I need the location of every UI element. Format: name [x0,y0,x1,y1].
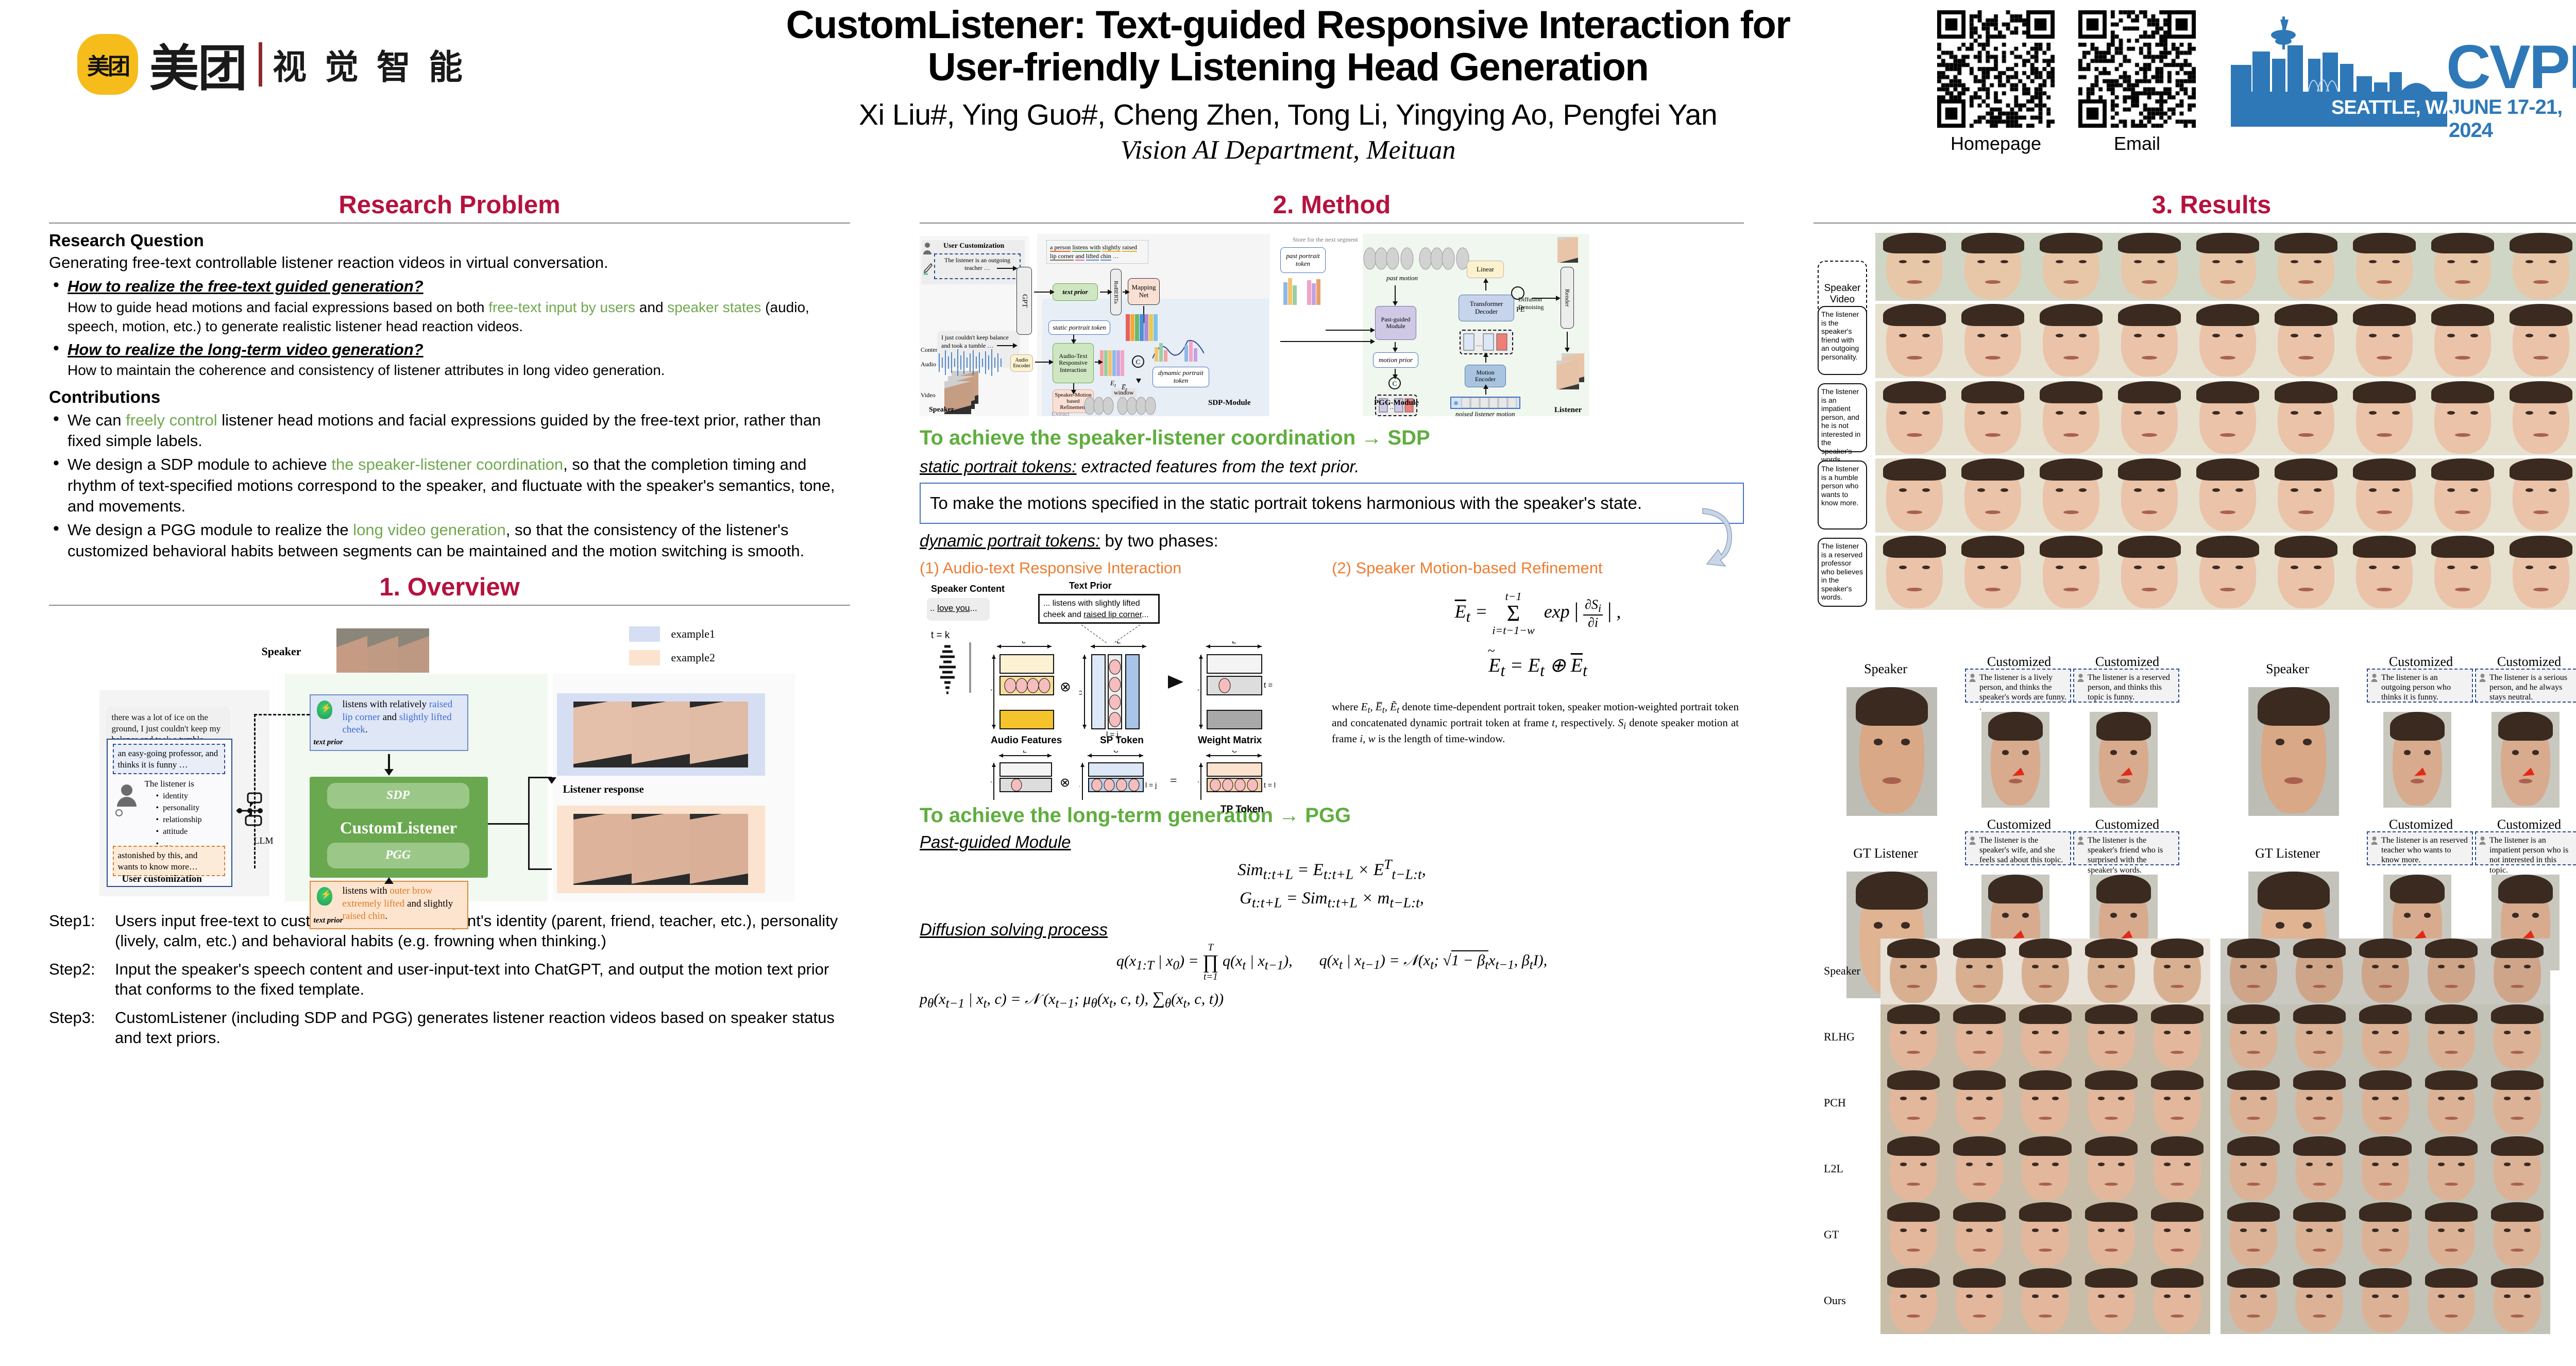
mf-ar-roberta-map [1123,292,1126,293]
mf-past-motion-heads [1363,246,1471,275]
static-tokens-rest: extracted features from the text prior. [1076,457,1359,476]
svg-text:T: T [991,688,992,697]
rq1-green1: free-text input by users [488,299,635,315]
face-frame [2032,536,2110,610]
face-frame [2492,712,2560,808]
mf-text-prior-box: text prior [1053,283,1098,301]
face-frame [1954,381,2032,455]
mf-pe-icon [1511,286,1524,300]
cvpr-logo: SEATTLE, WA CVPR JUNE 17-21, 2024 [2231,14,2576,128]
p1-otimes-1: ⊗ [1060,679,1071,695]
listener-description-tag: The listener is an impatient person, and… [1818,383,1867,452]
face-frame [2090,712,2158,808]
person-icon [1969,673,1976,682]
mf-listener-label: Listener [1554,406,1582,415]
mf-listener-img-top [1557,237,1578,263]
svg-text:❄: ❄ [1453,400,1459,407]
phase2-where: where Et, E̅t, Ẽt denote time-dependent … [1332,700,1744,746]
mf-ar-me-slots [1485,356,1486,363]
listener-prompt-box: The listener is the speaker's wife, and … [1965,831,2071,865]
c2-pre: We design a SDP module to achieve [67,455,331,473]
face-frame [2286,1070,2352,1136]
face-frame [2189,458,2267,533]
face-frame [2221,1268,2286,1334]
face-frame [2418,1136,2484,1202]
mf-past-token-label: past portrait token [1281,252,1325,267]
phase2-eq1: Et = t−1 Σ i=t−1−w exp | ∂Si ∂i | , [1455,601,1621,622]
mf-ar-dyn-pg [1280,341,1371,342]
paper-title-line2: User-friendly Listening Head Generation [690,46,1886,89]
step-value: CustomListener (including SDP and PGG) g… [115,1008,850,1048]
mf-noised-motion-bar: ❄ [1450,397,1520,409]
results-top-panel: Speaker Video The listener is the speake… [1814,231,2576,643]
ov-user-custom-title: User customization [122,874,202,885]
face-frame [2345,536,2424,610]
method-row-label: Ours [1824,1294,1846,1307]
ov-legend-label-1: example1 [671,627,716,641]
face-frame [2144,1070,2210,1136]
ov-tp-label-blue: text prior [314,738,343,748]
pgg-block: To achieve the long-term generation → PG… [920,804,1744,1011]
face-frame [1875,381,1954,455]
face-frame [2286,938,2352,1004]
face-frame [2286,1004,2352,1070]
face-frame [2032,381,2110,455]
static-tokens-line: static portrait tokens: extracted featur… [920,457,1744,476]
mf-ar-prior-roberta [1100,292,1108,293]
person-icon [1969,836,1976,845]
svg-text:C: C [1113,750,1118,754]
face-frame [1946,1268,2012,1334]
face-frame [1946,1070,2012,1136]
face-frame [2110,536,2189,610]
p1-audio-block: c T [991,641,1058,737]
p1-audio-features-label: Audio Features [991,735,1062,746]
panel-caption: Speaker [1834,661,1937,677]
face-frame [2424,304,2502,378]
face-frame [2484,1202,2550,1268]
qr-email-icon[interactable] [2078,10,2196,128]
pgg-eq1: Simt:t+L = Et:t+L × ETt−L:t, [920,856,1744,883]
ov-response-blue-frames [573,702,748,767]
mf-noised-label: noised listener motion [1455,410,1515,418]
ov-prior-blue-text: listens with relatively raised lip corne… [343,699,453,735]
face-frame [2078,1136,2144,1202]
diff-eq1: q(x1:T | x0) = T∏t=1 q(xt | xt−1), [1116,943,1293,982]
p1-speaker-content-label: Speaker Content [931,584,1005,594]
mf-atri-box: Audio-Text Responsive Interaction [1053,343,1094,383]
cvpr-dates: JUNE 17-21, 2024 [2449,96,2576,142]
mf-static-token-label: static portrait token [1053,324,1106,332]
person-icon [2371,673,2378,682]
ov-bulb-icon-orange [317,887,332,906]
diff-eq3: pθ(xt−1 | xt, c) = 𝒩 (xt−1; μθ(xt, c, t)… [920,991,1224,1008]
ov-llm-icon [236,792,264,836]
svg-text:t = k: t = k [1264,781,1275,789]
mf-dynamic-token-box: dynamic portrait token [1153,367,1209,387]
face-frame [1946,1004,2012,1070]
mf-roberta-label: RoBERTa [1113,281,1119,303]
ov-llm-label: LLM [254,835,274,846]
sdp-block: To achieve the speaker-listener coordina… [920,426,1744,551]
mf-ar-audio-atri [1035,362,1049,363]
author-list: Xi Liu#, Ying Guo#, Cheng Zhen, Tong Li,… [690,98,1886,132]
panel-caption: GT Listener [2236,846,2339,861]
research-question-1-body: How to guide head motions and facial exp… [67,298,850,336]
mf-ar-static-atri [1073,335,1074,340]
person-icon [2479,673,2486,682]
overview-figure: Speaker there was a lot of ice on the gr… [99,613,800,901]
contribution-item: We can freely control listener head moti… [49,410,850,452]
results-mid-panel-2: SpeakerGT ListenerCustomized Listener 1T… [2215,647,2576,935]
ov-listener-response-label: Listener response [563,783,644,796]
svg-text:T: T [1198,688,1199,697]
p1-row2-sp: C L l = j [1079,750,1157,805]
ov-bulb-icon-blue [317,701,332,719]
face-frame [2418,1004,2484,1070]
face-frame [1880,1004,1946,1070]
svg-text:L: L [1079,780,1080,788]
face-frame [2012,1004,2078,1070]
face-frame [1954,233,2032,301]
face-frame [2484,1070,2550,1136]
phases-row: (1) Audio-text Responsive Interaction Sp… [920,559,1744,797]
mf-past-token-box: past portrait token [1280,247,1326,273]
face-frame [2012,1136,2078,1202]
face-frame [2110,304,2189,378]
person-icon [2077,673,2084,682]
svg-text:c: c [1079,688,1082,697]
listener-description-tag: The listener is the speaker's friend wit… [1818,306,1867,375]
p1-weight-matrix-label: Weight Matrix [1198,735,1262,746]
meituan-badge-icon: 美团 [77,34,138,95]
column-left: Research Problem Research Question Gener… [49,191,850,1048]
cvpr-city: SEATTLE, WA [2331,97,2456,119]
results-mid-panels: SpeakerGT ListenerCustomized Listener 1T… [1814,647,2576,935]
face-frame [2286,1268,2352,1334]
ov-tp-label-orange: text prior [314,916,343,926]
face-frame [2144,1268,2210,1334]
face-frame [2484,1004,2550,1070]
mf-dynamic-token-label: dynamic portrait token [1153,369,1209,384]
mf-past-motion-label: past motion [1386,274,1418,282]
mf-gpt-label: GPT [1020,294,1028,308]
mf-token-slots-2: … [1460,330,1513,354]
face-frame [2032,304,2110,378]
mf-speaker-label: Speaker [929,406,954,414]
face-frame [2418,938,2484,1004]
face-frame [2352,938,2418,1004]
face-frame [2502,233,2576,301]
qr-homepage-icon[interactable] [1937,10,2055,128]
face-frame [2267,458,2345,533]
face-frame [2502,381,2576,455]
face-frame [1875,304,1954,378]
svg-text:L: L [1232,641,1236,645]
mf-ar-render-listener [1567,332,1568,348]
face-frame [2078,1004,2144,1070]
ov-text-prior-orange: text prior listens with outer brow extre… [310,881,468,929]
ov-speaker-frames [336,628,429,673]
dynamic-tokens-head: dynamic portrait tokens: [920,531,1100,550]
mf-pencil-icon [923,263,933,275]
svg-text:C: C [1232,750,1237,754]
c1-pre: We can [67,411,126,429]
listener-prompt-box: The listener is the speaker's friend who… [2073,831,2179,865]
svg-text:L: L [1023,750,1027,754]
mf-waveform-icon [937,348,1004,377]
face-frame [1875,458,1954,533]
face-frame [2221,1004,2286,1070]
panel-caption: Speaker [2236,661,2339,677]
face-frame [1875,233,1954,301]
c1-green: freely control [126,411,217,429]
listener-prompt-box: The listener is an impatient person who … [2475,831,2576,865]
phase2-block: (2) Speaker Motion-based Refinement Et =… [1332,559,1744,797]
p1-speaker-content-text: .. love you... [927,598,990,621]
mf-render-label: Render [1564,289,1570,307]
rq1-mid: and [635,299,667,315]
mf-audio-encoder-box: Audio Encoder [1010,354,1033,372]
section-rule-overview [49,605,850,606]
mf-ar-pastmotion-pg [1395,285,1396,302]
face-frame [1954,304,2032,378]
mf-mappingnet-box: Mapping Net [1128,278,1160,305]
face-frame [2248,687,2339,816]
column-right: 3. Results Speaker Video The listener is… [1814,191,2576,1366]
mf-et-tokens [1100,350,1127,380]
section-title-research-problem: Research Problem [49,191,850,223]
c3-pre: We design a PGG module to realize the [67,521,353,539]
results-bottom-panel: SpeakerRLHGPCHL2LGTOurs [1814,938,2576,1366]
face-frame [2267,381,2345,455]
mf-store-label: Store for the next segment [1293,236,1358,244]
phase2-title: (2) Speaker Motion-based Refinement [1332,559,1744,577]
cvpr-wordmark: CVPR [2446,36,2576,98]
ov-dash-2 [254,714,310,715]
mf-concat-icon: C [1132,355,1144,368]
mf-ar-mp-c [1395,369,1396,375]
research-question-2-title: How to realize the long-term video gener… [67,339,850,360]
research-question-1-title: How to realize the free-text guided gene… [67,276,850,297]
face-frame [2267,233,2345,301]
face-frame [2424,381,2502,455]
face-frame [2189,233,2267,301]
method-row-label: RLHG [1824,1030,1855,1044]
face-frame [2078,1202,2144,1268]
research-question-heading: Research Question [49,231,850,250]
face-frame [2352,1268,2418,1334]
sdp-callout-text: To make the motions specified in the sta… [930,493,1642,513]
mf-audio-encoder-label: Audio Encoder [1011,357,1032,369]
ov-legend-label-2: example2 [671,651,716,664]
mf-person-icon [923,242,932,257]
ov-arrow-down-1 [388,754,390,770]
method-row-label: L2L [1824,1162,1843,1175]
face-frame [1946,1136,2012,1202]
face-frame [2078,1268,2144,1334]
p1-row2-weight: L T [991,750,1058,805]
face-frame [2345,381,2424,455]
listener-description-tag: The listener is a humble person who want… [1818,460,1867,530]
face-frame [2345,304,2424,378]
research-question-item-2: How to realize the long-term video gener… [49,339,850,380]
ov-text-prior-blue: text prior listens with relatively raise… [310,694,468,751]
face-frame [2221,1202,2286,1268]
mf-past-token-strip [1283,278,1323,310]
rq1-green2: speaker states [667,299,761,315]
person-icon [2479,836,2486,845]
mf-ar-motion-smr [1073,383,1074,390]
face-frame [1880,938,1946,1004]
ov-branch-up [528,777,552,778]
ov-user-custom-orange: astonished by this, and wants to know mo… [113,846,225,877]
logo-divider [259,42,262,87]
face-frame [1875,536,1954,610]
face-frame [2221,938,2286,1004]
face-frame [2418,1070,2484,1136]
face-frame [1981,712,2049,808]
listener-description-tag: The listener is a reserved professor who… [1818,538,1867,607]
p1-otimes-2: ⊗ [1060,775,1070,790]
pgg-lead: To achieve the long-term generation → PG… [920,804,1744,827]
mf-text-prior-label: text prior [1062,288,1088,296]
contribution-item: We design a SDP module to achieve the sp… [49,454,850,517]
face-frame [1880,1268,1946,1334]
contribution-item: We design a PGG module to realize the lo… [49,520,850,561]
face-frame [2110,381,2189,455]
p1-tk-label: t = k [931,630,950,641]
p1-text-prior-text: ... listens with slightly lifted cheek a… [1038,594,1160,624]
mf-ar-atri-et [1095,362,1099,363]
qr-homepage-label: Homepage [1937,133,2055,155]
face-frame [2221,1136,2286,1202]
svg-text:…: … [1476,340,1482,348]
mf-ar-dd-render [1532,298,1556,299]
dynamic-tokens-rest: by two phases: [1100,531,1218,550]
face-frame [2012,1268,2078,1334]
mf-ar-past-pg [1326,330,1371,331]
ov-branch-down [528,868,552,870]
ov-legend-swatch-1 [629,626,660,642]
diffusion-eq-row: q(x1:T | x0) = T∏t=1 q(xt | xt−1), q(xt … [920,943,1744,982]
listener-prompt-box: The listener is an outgoing person who t… [2367,669,2473,703]
mf-motion-prior-box: motion prior [1373,352,1418,368]
phase2-eq1-wrap: Et = t−1 Σ i=t−1−w exp | ∂Si ∂i | , [1332,591,1744,636]
face-frame [2286,1136,2352,1202]
research-question-2-body: How to maintain the coherence and consis… [67,361,850,380]
meituan-subbrand: 视 觉 智 能 [273,40,466,89]
qr-email-item[interactable]: Email [2078,10,2196,155]
svg-text:l = j: l = j [1145,781,1157,789]
listener-prompt-box: The listener is an reserved teacher who … [2367,831,2473,865]
ov-dash-1 [254,714,256,868]
p1-sp-token-label: SP Token [1100,735,1144,746]
step-key: Step1: [49,911,115,951]
mf-motion-prior-label: motion prior [1379,356,1413,364]
face-frame [1880,1070,1946,1136]
section-title-results: 3. Results [1814,191,2576,223]
section-rule [49,223,850,224]
ov-branch-v [528,777,530,869]
phase1-figure: Speaker Content .. love you... t = k Tex… [920,580,1327,797]
mf-static-token-box: static portrait token [1048,320,1110,335]
mf-ar-pg-mp [1395,342,1396,348]
dynamic-tokens-line: dynamic portrait tokens: by two phases: [920,531,1744,551]
p1-big-arrow [1168,675,1183,689]
ov-model-name: CustomListener [310,819,488,838]
poster-header: 美团 美团 视 觉 智 能 CustomListener: Text-guide… [0,0,2576,191]
ov-listener-is: The listener is [145,779,194,789]
face-frame [2424,536,2502,610]
ov-listener-attrs: • identity• personality• relationship• a… [156,790,202,850]
mf-linear-box: Linear [1467,261,1504,278]
face-frame [2012,938,2078,1004]
diff-eq2: q(xt | xt−1) = 𝒩(xt; √1 − βtxt−1, βtI), [1319,952,1548,972]
results-mid-panel-1: SpeakerGT ListenerCustomized Listener 1T… [1814,647,2205,935]
face-frame [2502,304,2576,378]
method-row-label: PCH [1824,1096,1846,1109]
mf-past-guided-label: Past-guided Module [1376,316,1416,330]
face-frame [2352,1004,2418,1070]
c2-green: the speaker-listener coordination [331,455,563,473]
title-block: CustomListener: Text-guided Responsive I… [690,4,1886,165]
p1-connector [969,642,971,693]
column-middle: 2. Method User Customization The listene… [920,191,1744,1011]
face-frame [2144,1004,2210,1070]
p1-dash-links [1060,625,1153,645]
mf-pgg-module-label: PGG-Module [1374,399,1419,407]
ov-speaker-label: Speaker [262,645,301,658]
face-frame [2189,304,2267,378]
face-frame [2383,712,2451,808]
mf-usercustom-text: The listener is an outgoing teacher … [934,253,1021,279]
face-frame [1846,687,1937,816]
meituan-wordmark: 美团 [149,28,246,100]
face-frame [2424,233,2502,301]
face-frame [2078,938,2144,1004]
svg-text:T: T [1198,780,1199,788]
research-question-lead: Generating free-text controllable listen… [49,252,850,273]
sdp-lead: To achieve the speaker-listener coordina… [920,426,1744,450]
face-frame [2502,536,2576,610]
face-frame [1954,536,2032,610]
p1-sptoken-block: L c l = j [1079,641,1162,742]
face-frame [2418,1202,2484,1268]
mf-prior-sentence: a person listens with slightly raised li… [1046,240,1148,264]
ov-pgg-box: PGG [327,843,469,868]
step-key: Step3: [49,1008,115,1048]
mf-video-label: Video [921,391,936,399]
diffusion-head: Diffusion solving process [920,920,1744,940]
section-title-overview: 1. Overview [49,573,850,605]
panel-caption: GT Listener [1834,846,1937,861]
p1-waveform-icon [937,640,958,697]
research-question-item-1: How to realize the free-text guided gene… [49,276,850,336]
mf-past-guided-box: Past-guided Module [1375,306,1416,340]
mf-et-label: Et [1110,379,1116,389]
mf-ar-tr-linear [1485,282,1486,291]
qr-homepage-item[interactable]: Homepage [1937,10,2055,155]
method-figure: User Customization The listener is an ou… [920,229,1744,419]
face-frame [2352,1136,2418,1202]
face-frame [2110,233,2189,301]
ov-response-orange-frames [573,814,748,885]
method-row-label: GT [1824,1228,1839,1241]
face-frame [2144,1136,2210,1202]
mf-etbar-label: E̅t [1122,383,1127,393]
mf-dyn-tokens [1153,338,1204,365]
